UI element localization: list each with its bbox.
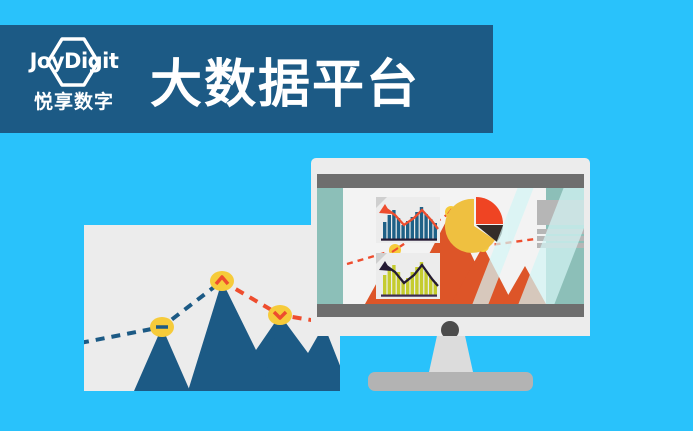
document-placeholder-block	[537, 200, 584, 245]
mountain-shape-right	[503, 266, 546, 304]
monitor-base	[368, 372, 533, 391]
monitor-screen	[317, 188, 584, 304]
data-node	[210, 271, 234, 291]
card-fold-corner-icon	[376, 197, 387, 208]
axis-line	[381, 239, 437, 241]
data-node	[268, 305, 292, 325]
page-title: 大数据平台	[150, 42, 420, 117]
pie-slice-b	[476, 197, 503, 224]
foreground-mountain-chart	[84, 225, 340, 391]
trend-line-blue-segment	[84, 281, 222, 343]
monitor-bottom-bar	[317, 304, 584, 317]
monitor-top-bar	[317, 174, 584, 188]
desktop-monitor	[311, 158, 590, 391]
pie-chart	[443, 196, 513, 258]
header-banner: JoyDigit 悦享数字 大数据平台	[0, 25, 493, 133]
monitor-stand	[429, 336, 473, 372]
mini-bar-chart-card-blue	[376, 197, 440, 243]
screen-side-panel-left	[317, 188, 343, 304]
logo-wordmark: JoyDigit	[14, 49, 134, 73]
dashboard-content	[343, 188, 546, 304]
foreground-mountain-chart-panel	[84, 225, 340, 391]
axis-line	[381, 295, 437, 297]
doc-line	[537, 236, 584, 241]
brand-logo: JoyDigit 悦享数字	[14, 33, 134, 125]
doc-main-rect	[537, 200, 584, 225]
mini-bar-chart-card-olive	[376, 253, 440, 299]
doc-line	[537, 229, 584, 234]
logo-subtitle: 悦享数字	[14, 87, 134, 114]
poster-canvas: JoyDigit 悦享数字 大数据平台	[0, 0, 693, 431]
mountain-shape-left	[84, 327, 190, 391]
doc-line	[537, 243, 584, 248]
card-fold-corner-icon	[376, 253, 387, 264]
